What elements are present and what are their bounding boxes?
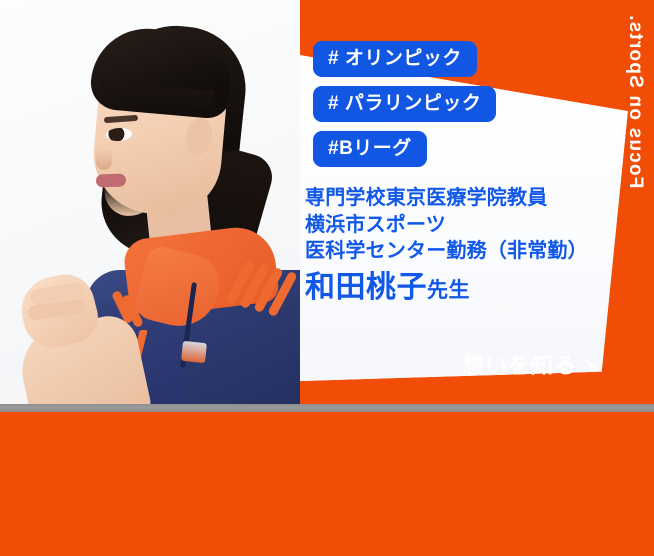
person-name-text: 和田桃子: [305, 271, 427, 304]
person-name: 和田桃子先生: [305, 271, 588, 304]
read-more-label: 想いを知る: [462, 353, 577, 378]
instructor-photo: [0, 0, 300, 404]
hashtag-olympics[interactable]: # オリンピック: [313, 41, 477, 77]
section-divider: [0, 404, 654, 412]
credential-line-3: 医科学センター勤務（非常勤）: [305, 238, 588, 265]
promo-banner-card: # オリンピック # パラリンピック #Bリーグ 専門学校東京医療学院教員 横浜…: [0, 0, 654, 556]
lips: [96, 173, 126, 187]
credential-line-1: 専門学校東京医療学院教員: [305, 185, 588, 212]
credential-line-2: 横浜市スポーツ: [305, 212, 588, 239]
read-more-link[interactable]: 想いを知る↘: [462, 355, 600, 377]
chest-logo: [181, 341, 207, 363]
credentials-block: 専門学校東京医療学院教員 横浜市スポーツ 医科学センター勤務（非常勤） 和田桃子…: [305, 185, 588, 304]
person-name-suffix: 先生: [427, 279, 470, 302]
headline-banner: プロスポーツ現場で得た経験を 教員の立場で生徒に還元する: [0, 412, 654, 556]
arrow-down-right-icon: ↘: [581, 353, 600, 378]
hero-section: # オリンピック # パラリンピック #Bリーグ 専門学校東京医療学院教員 横浜…: [0, 0, 654, 404]
hashtag-paralympics[interactable]: # パラリンピック: [313, 86, 496, 122]
hashtag-b-league[interactable]: #Bリーグ: [313, 131, 427, 167]
focus-on-sports-label: Focus on Sports.: [624, 14, 646, 188]
hashtag-list: # オリンピック # パラリンピック #Bリーグ: [313, 41, 496, 167]
